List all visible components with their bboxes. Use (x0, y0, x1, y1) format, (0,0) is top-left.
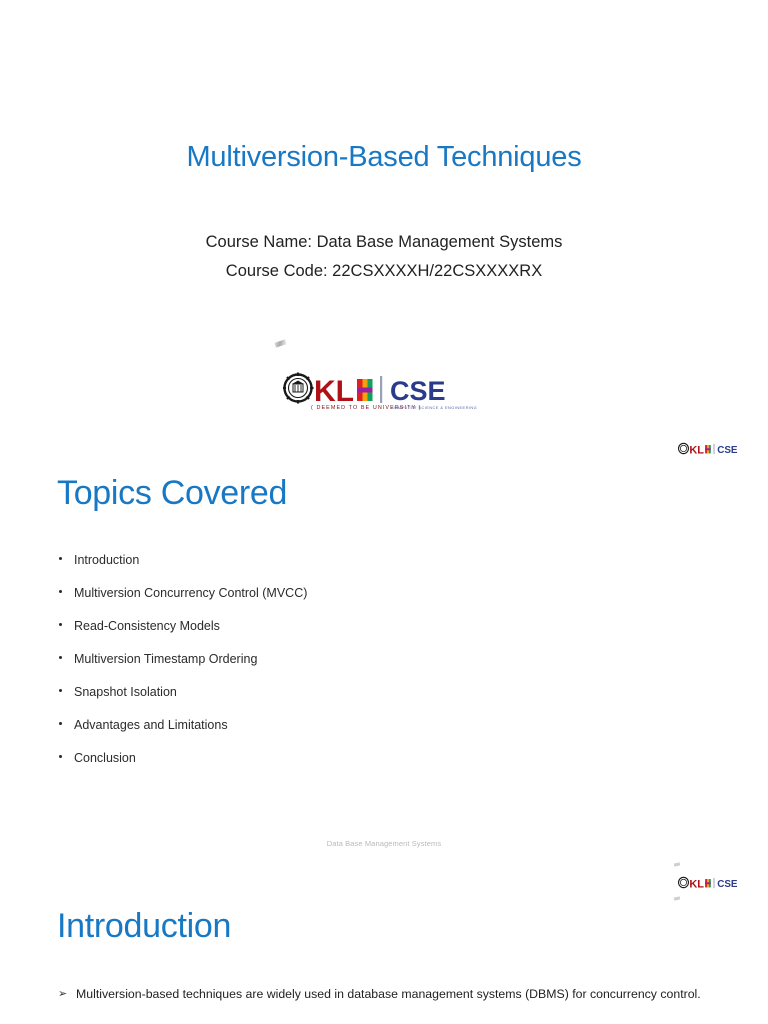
course-code-line: Course Code: 22CSXXXXH/22CSXXXXRX (0, 257, 768, 286)
slide-topics-covered: KL CSE Topics Covered Introduction Multi… (0, 462, 768, 869)
svg-text:KL: KL (689, 444, 704, 456)
list-item-label: Multiversion-based techniques are widely… (76, 987, 701, 1001)
svg-text:CSE: CSE (717, 879, 738, 890)
slide-title: Multiversion-Based Techniques Course Nam… (0, 0, 768, 462)
university-seal-icon (679, 877, 689, 887)
bullet-dot-icon (59, 755, 62, 758)
bullet-dot-icon (59, 656, 62, 659)
klh-cse-logo-corner: KL CSE (678, 442, 752, 458)
klh-cse-logo-corner: KL CSE (678, 876, 752, 892)
logo-h-multicolor (357, 379, 373, 401)
section-heading-introduction: Introduction (57, 907, 231, 946)
list-item-label: Multiversion Timestamp Ordering (74, 652, 257, 666)
list-item: Multiversion Concurrency Control (MVCC) (58, 585, 698, 618)
logo-cse-subtitle: COMPUTER SCIENCE & ENGINEERING (391, 405, 477, 410)
bullet-dot-icon (59, 722, 62, 725)
slide-footer-note: Data Base Management Systems (0, 839, 768, 848)
logo-cse-text: CSE (390, 376, 446, 406)
slides-page: Multiversion-Based Techniques Course Nam… (0, 0, 768, 1024)
klh-cse-logo: KL CSE ( DEEMED TO BE UNIVERSITY ) COMPU… (283, 371, 485, 413)
svg-text:CSE: CSE (717, 445, 738, 456)
logo-divider (380, 376, 382, 403)
bullet-dot-icon (59, 689, 62, 692)
course-name-line: Course Name: Data Base Management System… (0, 228, 768, 257)
university-seal-icon (283, 373, 314, 404)
topics-list: Introduction Multiversion Concurrency Co… (58, 552, 698, 783)
list-item: Multiversion Timestamp Ordering (58, 651, 698, 684)
list-item: Snapshot Isolation (58, 684, 698, 717)
svg-text:KL: KL (689, 878, 704, 890)
list-item-label: Introduction (74, 553, 139, 567)
bullet-dot-icon (59, 590, 62, 593)
stray-mark-icon (274, 339, 286, 347)
list-item-label: Multiversion Concurrency Control (MVCC) (74, 586, 307, 600)
list-item-label: Conclusion (74, 751, 136, 765)
university-seal-icon (679, 443, 689, 453)
list-item: Read-Consistency Models (58, 618, 698, 651)
arrow-bullet-icon: ➢ (58, 986, 67, 1004)
bullet-dot-icon (59, 557, 62, 560)
list-item-label: Read-Consistency Models (74, 619, 220, 633)
list-item: Advantages and Limitations (58, 717, 698, 750)
course-info-block: Course Name: Data Base Management System… (0, 228, 768, 286)
bullet-dot-icon (59, 623, 62, 626)
page-title: Multiversion-Based Techniques (0, 141, 768, 174)
list-item: ➢ Multiversion-based techniques are wide… (58, 986, 718, 1004)
list-item-label: Advantages and Limitations (74, 718, 228, 732)
slide-introduction: KL CSE Introduction ➢ Multiversion-based… (0, 869, 768, 1024)
list-item: Introduction (58, 552, 698, 585)
introduction-bullet-list: ➢ Multiversion-based techniques are wide… (58, 986, 718, 1004)
list-item: Conclusion (58, 750, 698, 783)
logo-kl-text: KL (314, 375, 354, 408)
section-heading-topics: Topics Covered (57, 474, 287, 513)
list-item-label: Snapshot Isolation (74, 685, 177, 699)
